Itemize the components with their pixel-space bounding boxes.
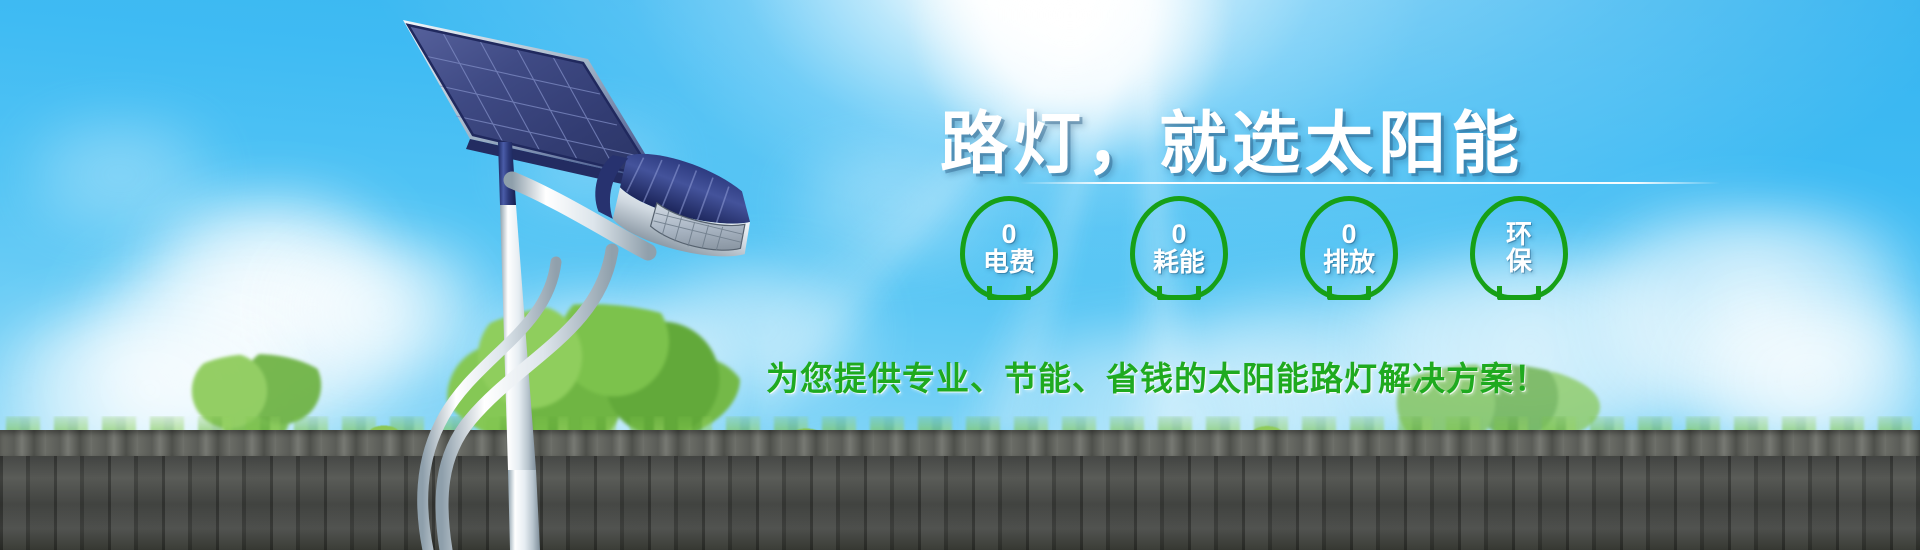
feature-badge-list: 0 电费 0 耗能 0 排放 环 保: [960, 196, 1568, 300]
badge-value: 0: [1001, 220, 1016, 248]
feature-badge: 0 排放: [1300, 196, 1398, 300]
feature-badge: 0 电费: [960, 196, 1058, 300]
feature-badge: 0 耗能: [1130, 196, 1228, 300]
page-title: 路灯，就选太阳能: [940, 88, 1524, 187]
badge-value: 0: [1171, 220, 1186, 248]
solar-street-light-banner: 路灯，就选太阳能 0 电费 0 耗能 0 排放 环 保 为您提供专业、节能、省钱…: [0, 0, 1920, 550]
badge-value: 环: [1506, 221, 1532, 248]
cloud: [480, 120, 700, 210]
tiled-wall: [0, 430, 1920, 550]
divider: [1020, 182, 1720, 184]
badge-label: 保: [1506, 248, 1532, 275]
tagline: 为您提供专业、节能、省钱的太阳能路灯解决方案！: [766, 352, 1548, 400]
badge-label: 排放: [1323, 249, 1375, 276]
badge-label: 电费: [983, 249, 1035, 276]
badge-label: 耗能: [1153, 249, 1205, 276]
feature-badge: 环 保: [1470, 196, 1568, 300]
badge-value: 0: [1341, 220, 1356, 248]
